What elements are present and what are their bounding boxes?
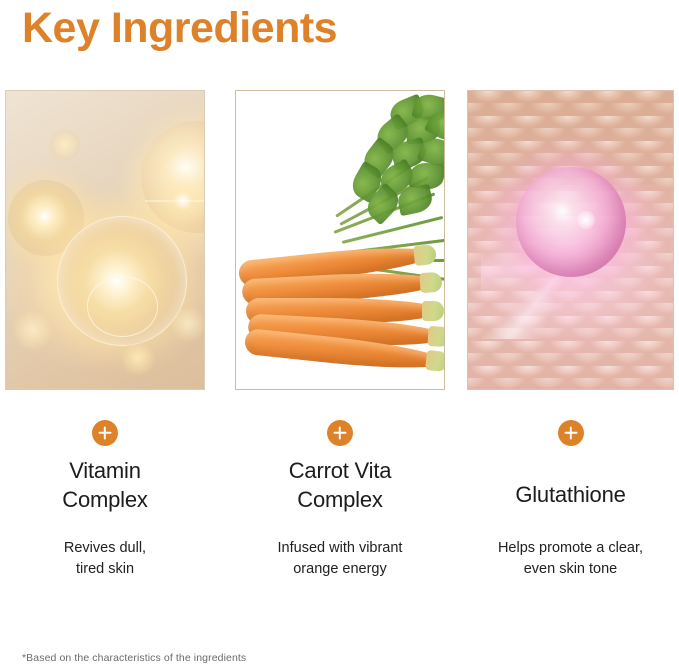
gold-bubble-small-icon xyxy=(12,309,54,351)
ingredient-description-vitamin-complex: Revives dull, tired skin xyxy=(5,538,205,579)
plus-badge-wrap-vitamin-complex xyxy=(5,420,205,446)
plus-badge-wrap-glutathione xyxy=(467,420,674,446)
gold-bubble-small-icon xyxy=(170,306,205,342)
ingredient-image-carrot-vita-complex xyxy=(235,90,445,390)
ingredient-card-vitamin-complex: Vitamin Complex Revives dull, tired skin xyxy=(5,90,205,390)
plus-icon xyxy=(558,420,584,446)
gold-bubble-small-icon xyxy=(50,130,80,160)
gold-molecule-illustration xyxy=(6,91,204,389)
footnote-disclaimer: *Based on the characteristics of the ing… xyxy=(22,652,246,664)
gold-bubble-small-icon xyxy=(121,341,155,375)
ingredient-description-carrot-vita-complex: Infused with vibrant orange energy xyxy=(235,538,445,579)
pink-sphere-illustration xyxy=(468,91,673,389)
ingredient-name-glutathione: Glutathione xyxy=(467,480,674,509)
page-title: Key Ingredients xyxy=(22,2,337,56)
carrot-photo-illustration xyxy=(236,91,444,389)
ingredient-image-vitamin-complex xyxy=(5,90,205,390)
ingredient-image-glutathione xyxy=(467,90,674,390)
gold-bubble-main-icon xyxy=(57,216,187,346)
plus-badge-wrap-carrot-vita-complex xyxy=(235,420,445,446)
ingredient-description-glutathione: Helps promote a clear, even skin tone xyxy=(467,538,674,579)
pink-sphere-icon xyxy=(516,167,626,277)
ingredient-name-carrot-vita-complex: Carrot Vita Complex xyxy=(235,456,445,515)
plus-icon xyxy=(92,420,118,446)
plus-icon xyxy=(327,420,353,446)
ingredient-card-carrot-vita-complex: Carrot Vita Complex Infused with vibrant… xyxy=(235,90,445,390)
ingredient-name-vitamin-complex: Vitamin Complex xyxy=(5,456,205,515)
ingredient-card-glutathione: Glutathione Helps promote a clear, even … xyxy=(467,90,674,390)
